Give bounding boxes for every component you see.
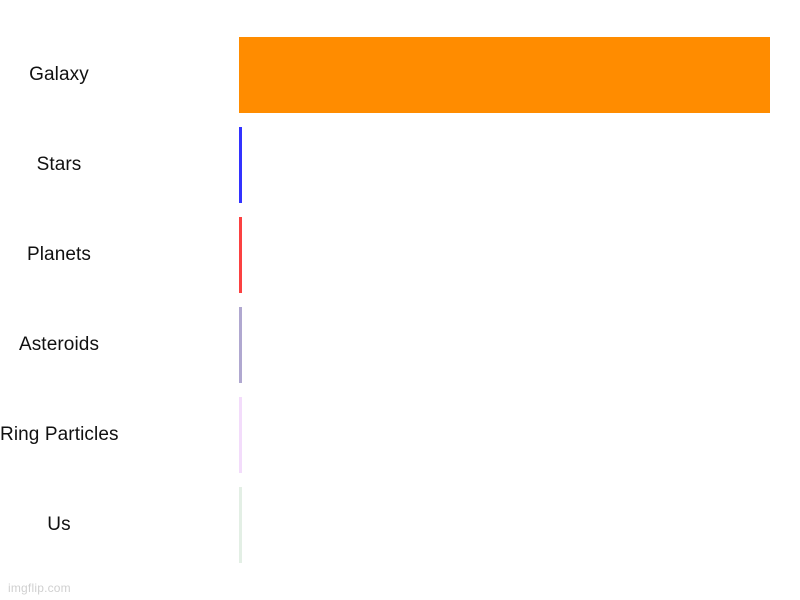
- bar-label-us: Us: [0, 515, 239, 536]
- bar-stars: [239, 127, 242, 203]
- bar-label-galaxy: Galaxy: [0, 65, 239, 86]
- bar-track: [239, 487, 800, 563]
- bar-us: [239, 487, 242, 563]
- bar-label-planets: Planets: [0, 245, 239, 266]
- bar-label-stars: Stars: [0, 155, 239, 176]
- bar-track: [239, 397, 800, 473]
- bar-track: [239, 127, 800, 203]
- imgflip-watermark: imgflip.com: [8, 581, 71, 595]
- bar-row: Ring Particles: [0, 397, 800, 473]
- bar-planets: [239, 217, 242, 293]
- bar-label-ring-particles: Ring Particles: [0, 425, 239, 446]
- bar-row: Us: [0, 487, 800, 563]
- bar-row: Stars: [0, 127, 800, 203]
- bar-track: [239, 307, 800, 383]
- bar-galaxy: [239, 37, 770, 113]
- bar-asteroids: [239, 307, 242, 383]
- bar-row: Galaxy: [0, 37, 800, 113]
- bar-track: [239, 37, 800, 113]
- bar-label-asteroids: Asteroids: [0, 335, 239, 356]
- bar-ring-particles: [239, 397, 242, 473]
- bar-track: [239, 217, 800, 293]
- bar-row: Asteroids: [0, 307, 800, 383]
- bar-row: Planets: [0, 217, 800, 293]
- chart-plot-area: Galaxy Stars Planets Asteroids Ring Part: [0, 37, 800, 562]
- bar-chart: Galaxy Stars Planets Asteroids Ring Part: [0, 0, 800, 600]
